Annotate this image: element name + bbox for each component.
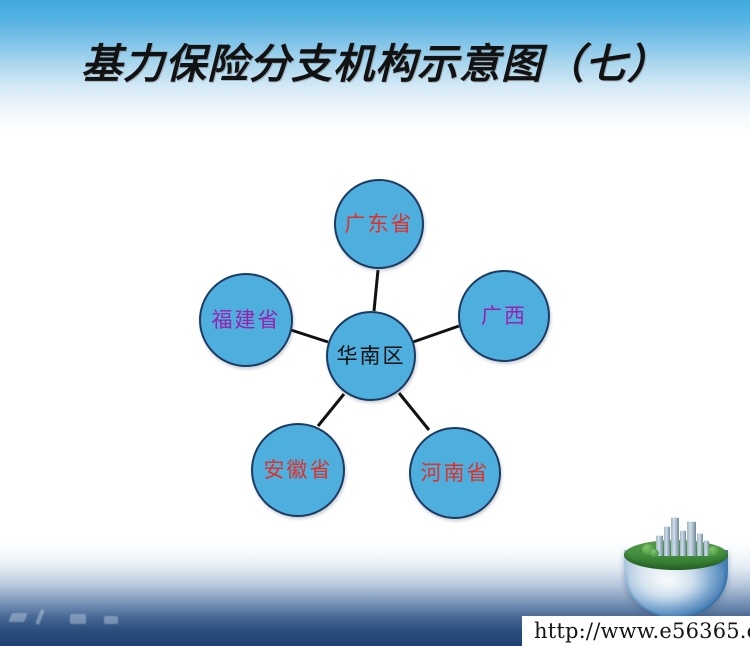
connector-center-guangdong [374,270,378,311]
city-skyline-icon [654,516,710,556]
node-fujian-label: 福建省 [212,310,281,331]
slide-canvas: 基力保险分支机构示意图（七） 华南区广东省福建省广西安徽省河南省 [0,0,750,646]
node-fujian[interactable]: 福建省 [199,273,293,367]
node-henan[interactable]: 河南省 [409,427,501,519]
node-guangxi[interactable]: 广西 [458,270,550,362]
watermark-url: http://www.e56365.com [522,616,750,646]
connector-center-guangxi [413,326,459,342]
center-huananqu-label: 华南区 [337,346,406,367]
center-huananqu[interactable]: 华南区 [326,311,416,401]
connector-center-anhui [318,394,344,426]
connector-center-fujian [291,330,328,342]
node-guangxi-label: 广西 [481,306,527,327]
node-anhui[interactable]: 安徽省 [251,423,345,517]
node-guangdong-label: 广东省 [345,214,414,235]
globe-city-logo [618,516,734,620]
url-text: http://www.e56365.com [522,619,750,643]
node-anhui-label: 安徽省 [264,460,333,481]
node-henan-label: 河南省 [421,463,490,484]
node-guangdong[interactable]: 广东省 [334,179,424,269]
connector-center-henan [399,393,429,430]
